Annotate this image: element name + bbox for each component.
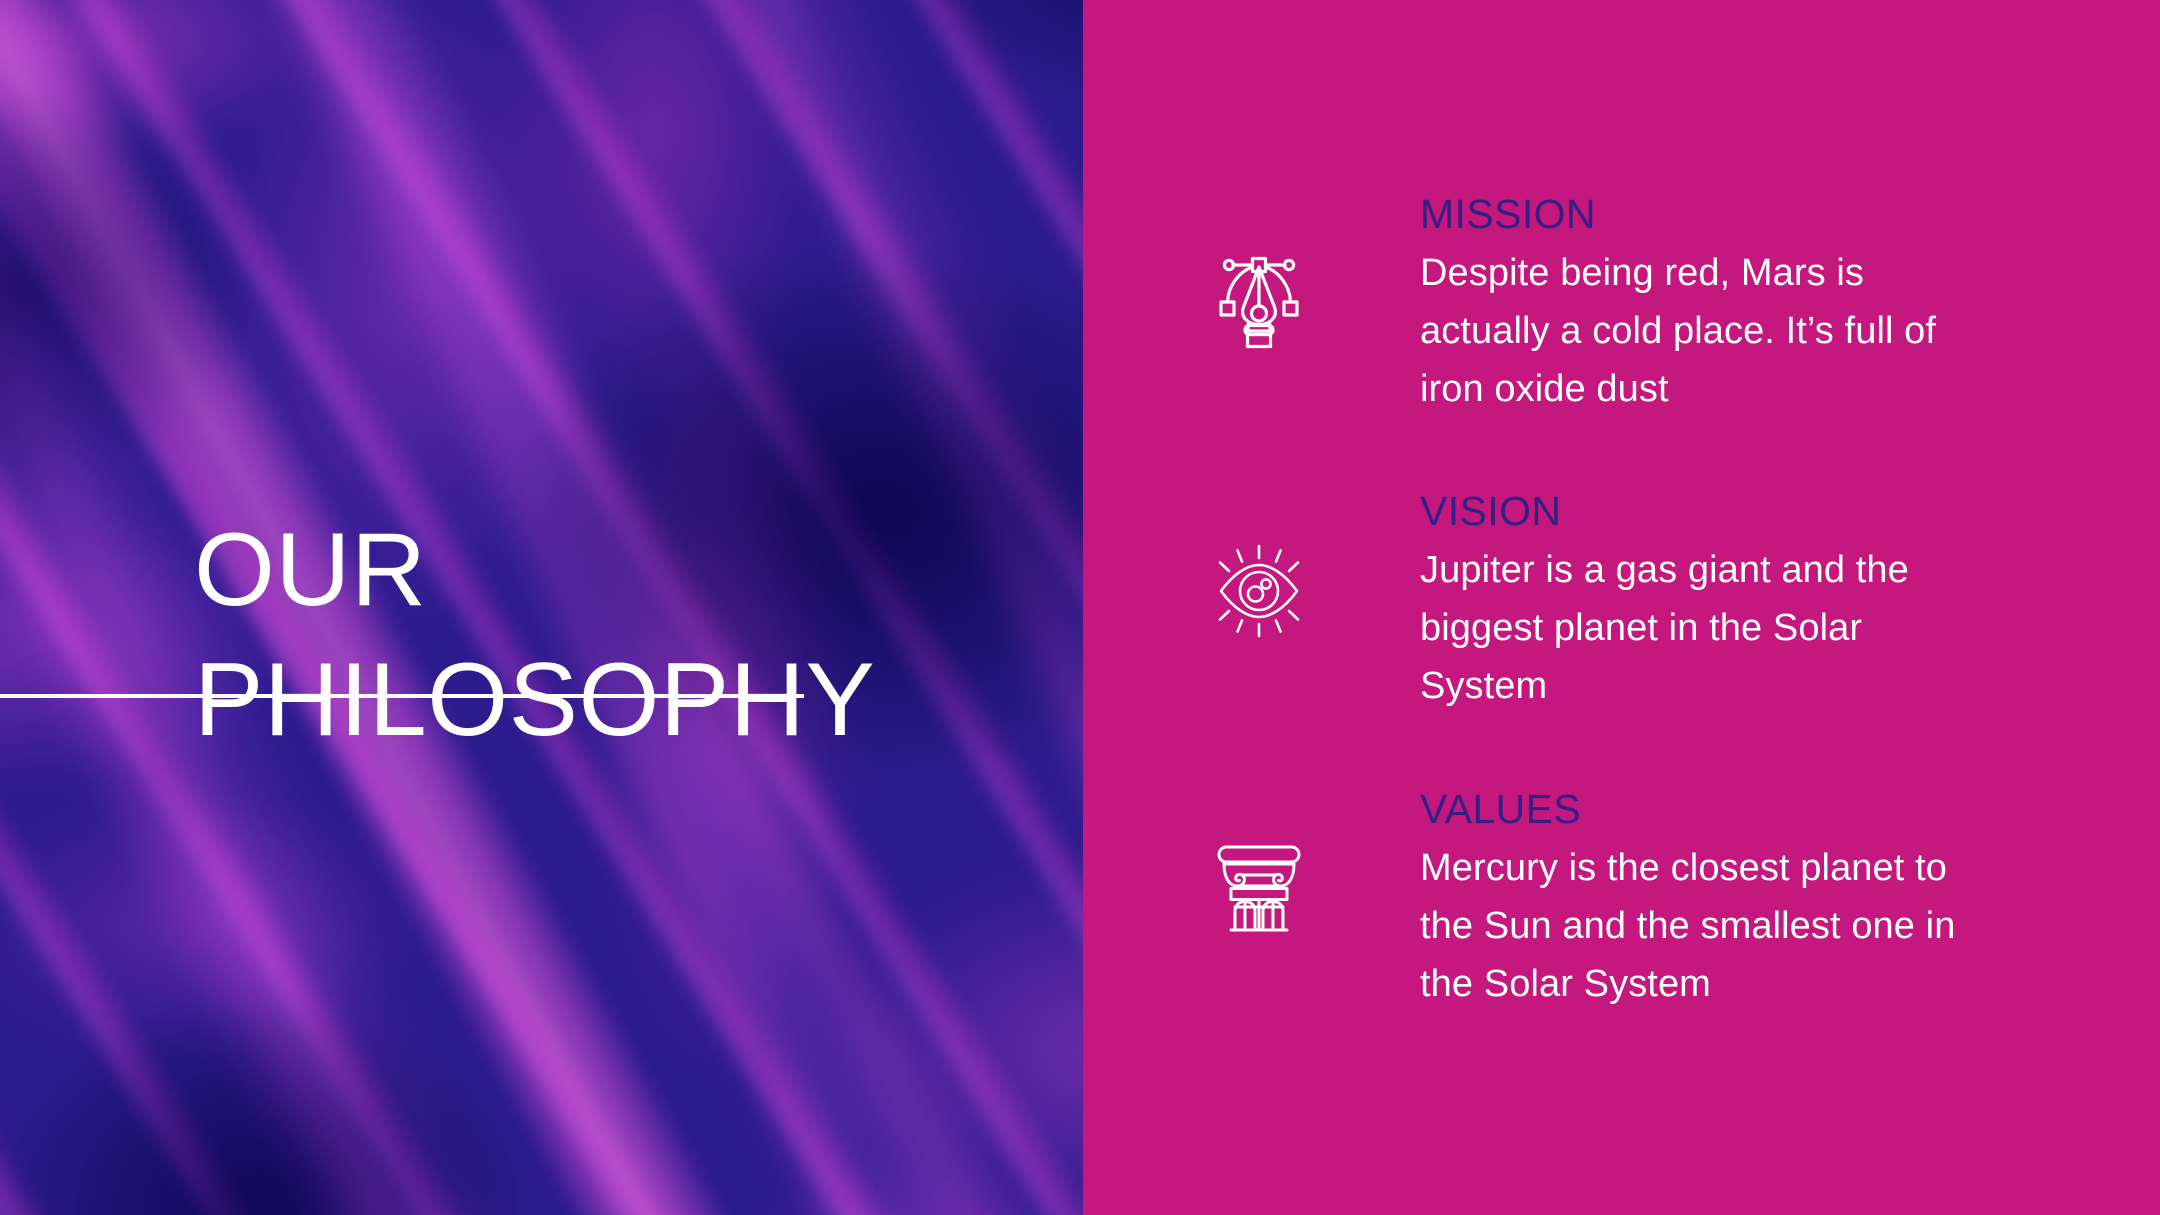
page-title: OUR PHILOSOPHY	[194, 505, 1054, 765]
feature-item-vision: VISION Jupiter is a gas giant and the bi…	[1083, 487, 2160, 715]
pen-tool-icon	[1203, 245, 1315, 349]
title-rule	[0, 694, 804, 698]
feature-item-mission: MISSION Despite being red, Mars is actua…	[1083, 190, 2160, 418]
feature-item-values: VALUES Mercury is the closest planet to …	[1083, 785, 2160, 1013]
title-line-two: PHILOSOPHY	[194, 635, 1054, 765]
feature-heading-vision: VISION	[1420, 487, 1960, 535]
eye-icon	[1203, 539, 1315, 643]
feature-heading-values: VALUES	[1420, 785, 1960, 833]
feature-text-vision: VISION Jupiter is a gas giant and the bi…	[1420, 487, 1960, 715]
title-line-one: OUR	[194, 505, 1054, 635]
right-panel: MISSION Despite being red, Mars is actua…	[1083, 0, 2160, 1215]
feature-body-vision: Jupiter is a gas giant and the biggest p…	[1420, 541, 1960, 715]
slide: OUR PHILOSOPHY	[0, 0, 2160, 1215]
feature-text-values: VALUES Mercury is the closest planet to …	[1420, 785, 1960, 1013]
feature-heading-mission: MISSION	[1420, 190, 1960, 238]
feature-body-mission: Despite being red, Mars is actually a co…	[1420, 244, 1960, 418]
feature-body-values: Mercury is the closest planet to the Sun…	[1420, 839, 1960, 1013]
feature-text-mission: MISSION Despite being red, Mars is actua…	[1420, 190, 1960, 418]
column-icon	[1203, 835, 1315, 939]
